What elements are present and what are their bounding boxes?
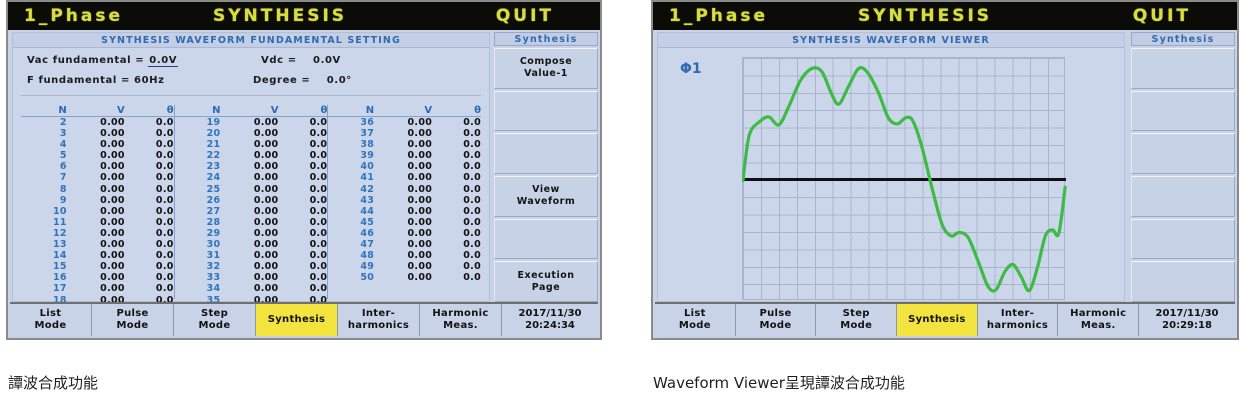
- table-row[interactable]: 100.000.0: [21, 206, 174, 217]
- harmonic-voltage[interactable]: 0.00: [374, 217, 432, 228]
- table-row[interactable]: 130.000.0: [21, 239, 174, 250]
- harmonic-order[interactable]: 46: [328, 228, 374, 239]
- table-row[interactable]: 160.000.0: [21, 272, 174, 283]
- harmonic-phase[interactable]: 0.0: [278, 239, 327, 250]
- harmonic-order[interactable]: 23: [175, 161, 221, 172]
- table-row[interactable]: 480.000.0: [328, 250, 481, 261]
- table-row[interactable]: 250.000.0: [175, 184, 328, 195]
- harmonic-voltage[interactable]: 0.00: [374, 161, 432, 172]
- table-row[interactable]: 470.000.0: [328, 239, 481, 250]
- harmonic-voltage[interactable]: 0.00: [220, 272, 278, 283]
- harmonic-voltage[interactable]: 0.00: [67, 206, 125, 217]
- function-key-harmonic-meas[interactable]: Harmonic Meas.: [420, 304, 502, 336]
- waveform-viewer-area: SYNTHESIS WAVEFORM VIEWER Φ1: [657, 32, 1125, 302]
- table-row[interactable]: 280.000.0: [175, 217, 328, 228]
- instrument-panel-synthesis-setting: 1_Phase SYNTHESIS QUIT SYNTHESIS WAVEFOR…: [6, 0, 602, 340]
- table-row[interactable]: 140.000.0: [21, 250, 174, 261]
- degree-value[interactable]: 0.0°: [327, 75, 352, 86]
- harmonic-phase[interactable]: 0.0: [432, 184, 481, 195]
- harmonic-phase[interactable]: 0.0: [125, 228, 174, 239]
- harmonic-phase[interactable]: 0.0: [125, 172, 174, 183]
- waveform-plot-region: Φ1: [658, 49, 1124, 301]
- harmonic-phase[interactable]: 0.0: [432, 195, 481, 206]
- vdc-value[interactable]: 0.0V: [313, 55, 341, 66]
- function-key-list-mode[interactable]: List Mode: [655, 304, 736, 336]
- function-key-inter--harmonics[interactable]: Inter- harmonics: [338, 304, 420, 336]
- channel-label: Φ1: [680, 61, 702, 77]
- harmonic-order[interactable]: 12: [21, 228, 67, 239]
- table-row[interactable]: 440.000.0: [328, 206, 481, 217]
- harmonic-order[interactable]: 19: [175, 117, 221, 128]
- caption-right: Waveform Viewer呈現譚波合成功能: [653, 372, 905, 393]
- harmonic-phase[interactable]: 0.0: [278, 184, 327, 195]
- harmonic-voltage[interactable]: 0.00: [67, 272, 125, 283]
- softkey-1[interactable]: Compose Value-1: [494, 48, 598, 89]
- harmonic-voltage[interactable]: 0.00: [220, 184, 278, 195]
- harmonic-phase[interactable]: 0.0: [278, 117, 327, 128]
- table-row[interactable]: 330.000.0: [175, 272, 328, 283]
- harmonic-order[interactable]: 31: [175, 250, 221, 261]
- f-fundamental-label: F fundamental =: [27, 75, 130, 86]
- harmonic-voltage[interactable]: 0.00: [67, 195, 125, 206]
- table-row[interactable]: 110.000.0: [21, 217, 174, 228]
- harmonic-voltage[interactable]: 0.00: [67, 261, 125, 272]
- harmonic-phase[interactable]: 0.0: [278, 150, 327, 161]
- harmonic-table[interactable]: NVθ20.000.030.000.040.000.050.000.060.00…: [21, 105, 481, 299]
- softkey-4[interactable]: [1131, 176, 1235, 217]
- table-row[interactable]: 360.000.0: [328, 117, 481, 128]
- table-row[interactable]: 200.000.0: [175, 128, 328, 139]
- harmonic-order[interactable]: 25: [175, 184, 221, 195]
- table-row[interactable]: 270.000.0: [175, 206, 328, 217]
- right-panel-body: SYNTHESIS WAVEFORM VIEWER Φ1 Synthesis L…: [653, 30, 1237, 338]
- harmonic-order[interactable]: 14: [21, 250, 67, 261]
- harmonic-voltage[interactable]: 0.00: [67, 117, 125, 128]
- harmonic-column-3: NVθ360.000.0370.000.0380.000.0390.000.04…: [327, 105, 481, 299]
- table-row[interactable]: 210.000.0: [175, 139, 328, 150]
- harmonic-voltage[interactable]: 0.00: [374, 228, 432, 239]
- harmonic-order[interactable]: 47: [328, 239, 374, 250]
- degree-label: Degree =: [253, 75, 310, 86]
- table-row[interactable]: 500.000.0: [328, 272, 481, 283]
- right-titlebar: 1_Phase SYNTHESIS QUIT: [653, 2, 1237, 30]
- harmonic-voltage[interactable]: 0.00: [67, 283, 125, 294]
- harmonic-phase[interactable]: 0.0: [432, 272, 481, 283]
- harmonic-phase[interactable]: 0.0: [432, 161, 481, 172]
- table-row[interactable]: 80.000.0: [21, 184, 174, 195]
- harmonic-order[interactable]: 32: [175, 261, 221, 272]
- function-key-synthesis[interactable]: Synthesis: [256, 304, 338, 336]
- harmonic-order[interactable]: 48: [328, 250, 374, 261]
- table-row[interactable]: 150.000.0: [21, 261, 174, 272]
- table-row[interactable]: 390.000.0: [328, 150, 481, 161]
- harmonic-phase[interactable]: 0.0: [432, 128, 481, 139]
- harmonic-order[interactable]: 37: [328, 128, 374, 139]
- harmonic-order[interactable]: 36: [328, 117, 374, 128]
- harmonic-order[interactable]: 39: [328, 150, 374, 161]
- harmonic-phase[interactable]: 0.0: [125, 206, 174, 217]
- harmonic-phase[interactable]: 0.0: [278, 195, 327, 206]
- harmonic-voltage[interactable]: 0.00: [220, 239, 278, 250]
- harmonic-order[interactable]: 17: [21, 283, 67, 294]
- softkey-header-right: Synthesis: [1131, 32, 1235, 46]
- softkey-column-left: Synthesis Compose Value-1View WaveformEx…: [494, 32, 598, 302]
- clock-display: 2017/11/30 20:29:18: [1139, 304, 1235, 336]
- harmonic-voltage[interactable]: 0.00: [220, 228, 278, 239]
- harmonic-phase[interactable]: 0.0: [432, 206, 481, 217]
- harmonic-order[interactable]: 21: [175, 139, 221, 150]
- harmonic-phase[interactable]: 0.0: [432, 172, 481, 183]
- phase-indicator: 1_Phase: [669, 6, 768, 26]
- harmonic-voltage[interactable]: 0.00: [374, 117, 432, 128]
- harmonic-voltage[interactable]: 0.00: [67, 150, 125, 161]
- function-key-step-mode[interactable]: Step Mode: [816, 304, 897, 336]
- waveform-grid: [742, 57, 1065, 300]
- harmonic-voltage[interactable]: 0.00: [67, 161, 125, 172]
- harmonic-voltage[interactable]: 0.00: [67, 128, 125, 139]
- table-row[interactable]: 60.000.0: [21, 161, 174, 172]
- harmonic-voltage[interactable]: 0.00: [220, 117, 278, 128]
- section-title-left: SYNTHESIS WAVEFORM FUNDAMENTAL SETTING: [13, 33, 489, 48]
- table-row[interactable]: 430.000.0: [328, 195, 481, 206]
- softkey-5[interactable]: [494, 219, 598, 260]
- softkey-header-left: Synthesis: [494, 32, 598, 46]
- f-fundamental-value[interactable]: 60Hz: [134, 75, 165, 86]
- harmonic-order[interactable]: 11: [21, 217, 67, 228]
- function-key-list-mode[interactable]: List Mode: [10, 304, 92, 336]
- softkey-3[interactable]: [494, 133, 598, 174]
- harmonic-voltage[interactable]: 0.00: [220, 217, 278, 228]
- table-row[interactable]: 370.000.0: [328, 128, 481, 139]
- harmonic-order[interactable]: 49: [328, 261, 374, 272]
- harmonic-phase[interactable]: 0.0: [432, 250, 481, 261]
- quit-button[interactable]: QUIT: [1133, 6, 1191, 26]
- harmonic-voltage[interactable]: 0.00: [374, 172, 432, 183]
- table-row[interactable]: 40.000.0: [21, 139, 174, 150]
- phase-indicator: 1_Phase: [24, 6, 123, 26]
- softkey-3[interactable]: [1131, 133, 1235, 174]
- softkey-1[interactable]: [1131, 48, 1235, 89]
- harmonic-order[interactable]: 8: [21, 184, 67, 195]
- harmonic-phase[interactable]: 0.0: [432, 239, 481, 250]
- harmonic-voltage[interactable]: 0.00: [374, 250, 432, 261]
- harmonic-order[interactable]: 45: [328, 217, 374, 228]
- table-row[interactable]: 290.000.0: [175, 228, 328, 239]
- harmonic-voltage[interactable]: 0.00: [67, 239, 125, 250]
- harmonic-voltage[interactable]: 0.00: [220, 250, 278, 261]
- harmonic-phase[interactable]: 0.0: [278, 139, 327, 150]
- harmonic-phase[interactable]: 0.0: [278, 261, 327, 272]
- harmonic-phase[interactable]: 0.0: [125, 161, 174, 172]
- function-key-inter--harmonics[interactable]: Inter- harmonics: [978, 304, 1059, 336]
- left-titlebar: 1_Phase SYNTHESIS QUIT: [8, 2, 600, 30]
- harmonic-voltage[interactable]: 0.00: [374, 139, 432, 150]
- softkey-6[interactable]: [1131, 261, 1235, 302]
- vac-fundamental-label: Vac fundamental =: [27, 55, 144, 66]
- harmonic-voltage[interactable]: 0.00: [220, 150, 278, 161]
- column-header-n: N: [175, 105, 221, 116]
- fundamental-setting-block: Vac fundamental = 0.0V F fundamental = 6…: [21, 49, 481, 96]
- function-key-pulse-mode[interactable]: Pulse Mode: [92, 304, 174, 336]
- harmonic-voltage[interactable]: 0.00: [220, 261, 278, 272]
- harmonic-voltage[interactable]: 0.00: [67, 139, 125, 150]
- harmonic-phase[interactable]: 0.0: [278, 272, 327, 283]
- harmonic-order[interactable]: 13: [21, 239, 67, 250]
- harmonic-phase[interactable]: 0.0: [278, 206, 327, 217]
- harmonic-order[interactable]: 5: [21, 150, 67, 161]
- harmonic-phase[interactable]: 0.0: [432, 261, 481, 272]
- harmonic-order[interactable]: 42: [328, 184, 374, 195]
- harmonic-order[interactable]: 26: [175, 195, 221, 206]
- table-row[interactable]: 380.000.0: [328, 139, 481, 150]
- table-row[interactable]: 310.000.0: [175, 250, 328, 261]
- function-key-synthesis[interactable]: Synthesis: [897, 304, 978, 336]
- harmonic-phase[interactable]: 0.0: [125, 150, 174, 161]
- softkey-6[interactable]: Execution Page: [494, 261, 598, 302]
- table-row[interactable]: 490.000.0: [328, 261, 481, 272]
- harmonic-voltage[interactable]: 0.00: [220, 206, 278, 217]
- harmonic-voltage[interactable]: 0.00: [220, 195, 278, 206]
- harmonic-order[interactable]: 3: [21, 128, 67, 139]
- harmonic-order[interactable]: 41: [328, 172, 374, 183]
- vdc-label: Vdc =: [261, 55, 297, 66]
- table-row[interactable]: 450.000.0: [328, 217, 481, 228]
- instrument-panel-waveform-viewer: 1_Phase SYNTHESIS QUIT SYNTHESIS WAVEFOR…: [651, 0, 1239, 340]
- table-row[interactable]: 190.000.0: [175, 117, 328, 128]
- quit-button[interactable]: QUIT: [496, 6, 554, 26]
- harmonic-order[interactable]: 50: [328, 272, 374, 283]
- table-row[interactable]: 70.000.0: [21, 172, 174, 183]
- harmonic-phase[interactable]: 0.0: [432, 139, 481, 150]
- harmonic-column-1: NVθ20.000.030.000.040.000.050.000.060.00…: [21, 105, 174, 299]
- harmonic-phase[interactable]: 0.0: [125, 261, 174, 272]
- harmonic-order[interactable]: 44: [328, 206, 374, 217]
- harmonic-phase[interactable]: 0.0: [125, 250, 174, 261]
- harmonic-phase[interactable]: 0.0: [278, 172, 327, 183]
- table-row[interactable]: 30.000.0: [21, 128, 174, 139]
- harmonic-order[interactable]: 33: [175, 272, 221, 283]
- harmonic-voltage[interactable]: 0.00: [374, 150, 432, 161]
- function-key-bar-left: List ModePulse ModeStep ModeSynthesisInt…: [10, 302, 598, 336]
- table-row[interactable]: 340.000.0: [175, 283, 328, 294]
- mode-title: SYNTHESIS: [213, 6, 347, 26]
- column-header-theta: θ: [432, 105, 481, 116]
- harmonic-table-header: NVθ: [175, 105, 328, 117]
- table-row[interactable]: 400.000.0: [328, 161, 481, 172]
- column-header-theta: θ: [125, 105, 174, 116]
- harmonic-phase[interactable]: 0.0: [432, 217, 481, 228]
- table-row[interactable]: 420.000.0: [328, 184, 481, 195]
- harmonic-phase[interactable]: 0.0: [278, 250, 327, 261]
- harmonic-order[interactable]: 38: [328, 139, 374, 150]
- table-row[interactable]: 260.000.0: [175, 195, 328, 206]
- column-header-v: V: [220, 105, 278, 116]
- harmonic-order[interactable]: 29: [175, 228, 221, 239]
- harmonic-order[interactable]: 16: [21, 272, 67, 283]
- table-row[interactable]: 320.000.0: [175, 261, 328, 272]
- degree-row: Degree = 0.0°: [253, 75, 352, 86]
- harmonic-phase[interactable]: 0.0: [278, 161, 327, 172]
- harmonic-column-2: NVθ190.000.0200.000.0210.000.0220.000.02…: [174, 105, 328, 299]
- harmonic-voltage[interactable]: 0.00: [374, 184, 432, 195]
- harmonic-voltage[interactable]: 0.00: [67, 228, 125, 239]
- f-fundamental-row: F fundamental = 60Hz: [27, 75, 165, 86]
- harmonic-order[interactable]: 9: [21, 195, 67, 206]
- column-header-n: N: [21, 105, 67, 116]
- table-row[interactable]: 20.000.0: [21, 117, 174, 128]
- harmonic-order[interactable]: 7: [21, 172, 67, 183]
- harmonic-voltage[interactable]: 0.00: [374, 272, 432, 283]
- column-header-n: N: [328, 105, 374, 116]
- softkey-2[interactable]: [1131, 91, 1235, 132]
- harmonic-table-header: NVθ: [328, 105, 481, 117]
- softkey-column-right: Synthesis: [1131, 32, 1235, 302]
- column-header-v: V: [374, 105, 432, 116]
- harmonic-voltage[interactable]: 0.00: [220, 139, 278, 150]
- caption-left: 譚波合成功能: [8, 372, 98, 393]
- harmonic-phase[interactable]: 0.0: [432, 150, 481, 161]
- left-panel-body: SYNTHESIS WAVEFORM FUNDAMENTAL SETTING V…: [8, 30, 600, 338]
- harmonic-voltage[interactable]: 0.00: [67, 184, 125, 195]
- harmonic-order[interactable]: 6: [21, 161, 67, 172]
- table-row[interactable]: 120.000.0: [21, 228, 174, 239]
- harmonic-voltage[interactable]: 0.00: [67, 172, 125, 183]
- function-key-harmonic-meas[interactable]: Harmonic Meas.: [1058, 304, 1139, 336]
- screenshot-root: 1_Phase SYNTHESIS QUIT SYNTHESIS WAVEFOR…: [0, 0, 1241, 407]
- harmonic-order[interactable]: 22: [175, 150, 221, 161]
- vdc-row: Vdc = 0.0V: [261, 55, 341, 66]
- harmonic-voltage[interactable]: 0.00: [220, 283, 278, 294]
- harmonic-phase[interactable]: 0.0: [125, 117, 174, 128]
- harmonic-phase[interactable]: 0.0: [278, 228, 327, 239]
- harmonic-phase[interactable]: 0.0: [125, 195, 174, 206]
- harmonic-order[interactable]: 43: [328, 195, 374, 206]
- harmonic-voltage[interactable]: 0.00: [374, 195, 432, 206]
- softkey-2[interactable]: [494, 91, 598, 132]
- harmonic-phase[interactable]: 0.0: [125, 139, 174, 150]
- harmonic-phase[interactable]: 0.0: [125, 239, 174, 250]
- column-header-v: V: [67, 105, 125, 116]
- clock-display: 2017/11/30 20:24:34: [502, 304, 598, 336]
- harmonic-voltage[interactable]: 0.00: [67, 217, 125, 228]
- vac-fundamental-input[interactable]: 0.0V: [148, 55, 178, 67]
- table-row[interactable]: 240.000.0: [175, 172, 328, 183]
- harmonic-voltage[interactable]: 0.00: [374, 206, 432, 217]
- column-header-theta: θ: [278, 105, 327, 116]
- vac-fundamental-row: Vac fundamental = 0.0V: [27, 55, 178, 66]
- harmonic-voltage[interactable]: 0.00: [67, 250, 125, 261]
- table-row[interactable]: 220.000.0: [175, 150, 328, 161]
- harmonic-order[interactable]: 34: [175, 283, 221, 294]
- harmonic-order[interactable]: 27: [175, 206, 221, 217]
- table-row[interactable]: 410.000.0: [328, 172, 481, 183]
- harmonic-voltage[interactable]: 0.00: [374, 128, 432, 139]
- mode-title: SYNTHESIS: [858, 6, 992, 26]
- harmonic-table-header: NVθ: [21, 105, 174, 117]
- harmonic-order[interactable]: 4: [21, 139, 67, 150]
- harmonic-phase[interactable]: 0.0: [278, 283, 327, 294]
- harmonic-order[interactable]: 20: [175, 128, 221, 139]
- table-row[interactable]: 90.000.0: [21, 195, 174, 206]
- function-key-pulse-mode[interactable]: Pulse Mode: [736, 304, 817, 336]
- harmonic-order[interactable]: 40: [328, 161, 374, 172]
- harmonic-order[interactable]: 15: [21, 261, 67, 272]
- table-row[interactable]: 50.000.0: [21, 150, 174, 161]
- harmonic-voltage[interactable]: 0.00: [220, 161, 278, 172]
- table-row[interactable]: 300.000.0: [175, 239, 328, 250]
- table-row[interactable]: 460.000.0: [328, 228, 481, 239]
- harmonic-order[interactable]: 10: [21, 206, 67, 217]
- harmonic-phase[interactable]: 0.0: [125, 272, 174, 283]
- harmonic-order[interactable]: 2: [21, 117, 67, 128]
- harmonic-voltage[interactable]: 0.00: [374, 261, 432, 272]
- harmonic-order[interactable]: 28: [175, 217, 221, 228]
- harmonic-voltage[interactable]: 0.00: [220, 172, 278, 183]
- section-title-right: SYNTHESIS WAVEFORM VIEWER: [658, 33, 1124, 48]
- harmonic-phase[interactable]: 0.0: [125, 283, 174, 294]
- softkey-4[interactable]: View Waveform: [494, 176, 598, 217]
- function-key-step-mode[interactable]: Step Mode: [174, 304, 256, 336]
- harmonic-voltage[interactable]: 0.00: [374, 239, 432, 250]
- harmonic-phase[interactable]: 0.0: [125, 128, 174, 139]
- table-row[interactable]: 170.000.0: [21, 283, 174, 294]
- harmonic-voltage[interactable]: 0.00: [220, 128, 278, 139]
- harmonic-phase[interactable]: 0.0: [125, 184, 174, 195]
- softkey-5[interactable]: [1131, 219, 1235, 260]
- synthesis-setting-area: SYNTHESIS WAVEFORM FUNDAMENTAL SETTING V…: [12, 32, 490, 302]
- harmonic-order[interactable]: 30: [175, 239, 221, 250]
- harmonic-phase[interactable]: 0.0: [278, 217, 327, 228]
- harmonic-phase[interactable]: 0.0: [125, 217, 174, 228]
- harmonic-order[interactable]: 24: [175, 172, 221, 183]
- function-key-bar-right: List ModePulse ModeStep ModeSynthesisInt…: [655, 302, 1235, 336]
- harmonic-phase[interactable]: 0.0: [278, 128, 327, 139]
- harmonic-phase[interactable]: 0.0: [432, 117, 481, 128]
- table-row[interactable]: 230.000.0: [175, 161, 328, 172]
- harmonic-phase[interactable]: 0.0: [432, 228, 481, 239]
- waveform-trace: [742, 57, 1067, 302]
